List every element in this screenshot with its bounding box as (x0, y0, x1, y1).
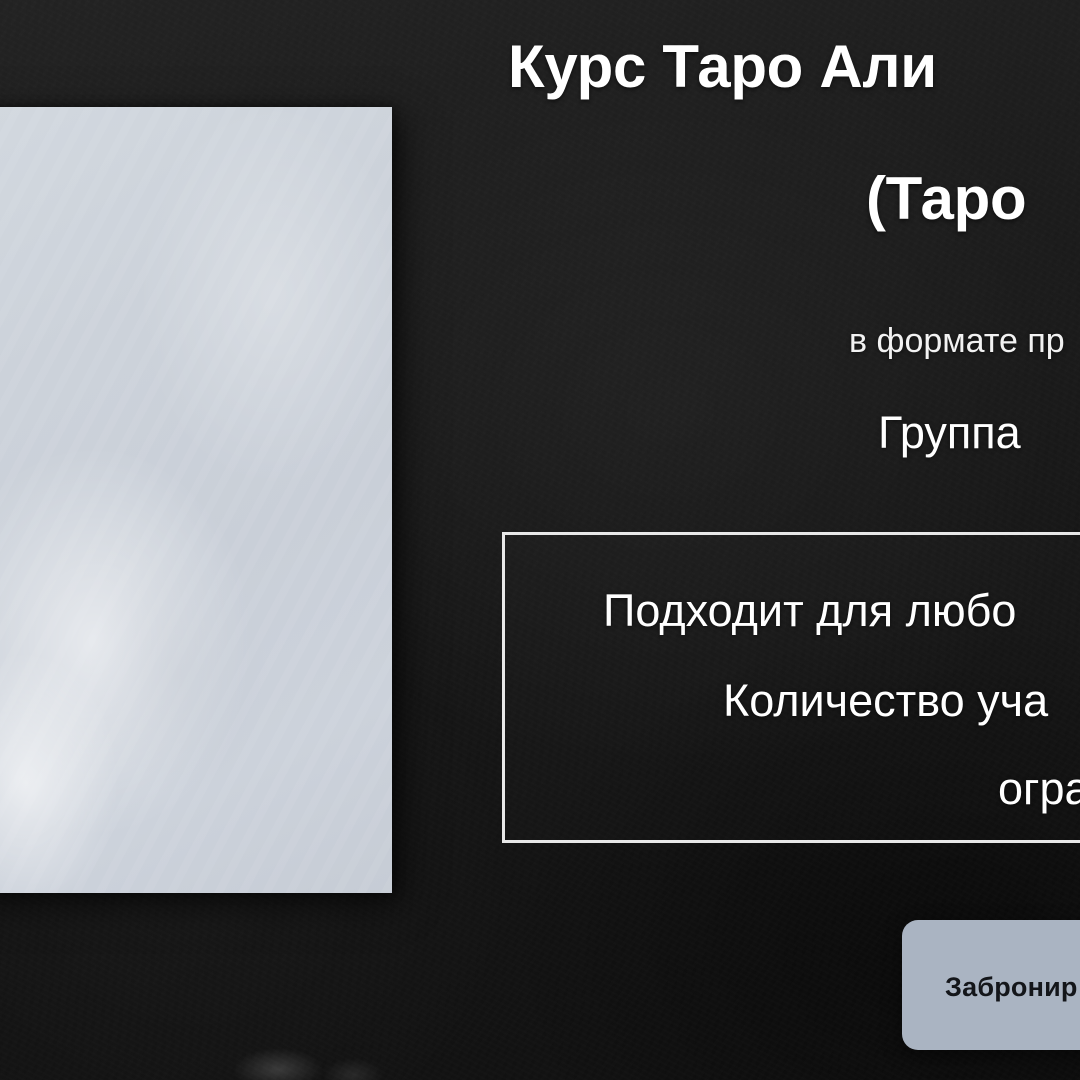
book-button[interactable]: Забронир (902, 920, 1080, 1050)
floor-highlight (170, 1012, 470, 1080)
photo-card (0, 107, 392, 893)
info-box-line-1: Подходит для любо (603, 585, 1016, 637)
info-box-line-2: Количество уча (723, 675, 1048, 727)
copy-column: Курс Таро Али (Таро в формате пр Группа … (430, 0, 1080, 1080)
info-box-line-3: ограни (998, 763, 1080, 815)
book-button-label: Забронир (945, 972, 1078, 1003)
headline-line-1: Курс Таро Али (508, 36, 937, 97)
headline-line-2: (Таро (866, 168, 1026, 229)
format-subtitle: в формате пр (849, 322, 1065, 361)
group-subtitle: Группа (878, 407, 1021, 459)
photo-card-sheen (0, 107, 392, 893)
info-box: Подходит для любо Количество уча ограни (502, 532, 1080, 843)
promo-slide: Курс Таро Али (Таро в формате пр Группа … (0, 0, 1080, 1080)
